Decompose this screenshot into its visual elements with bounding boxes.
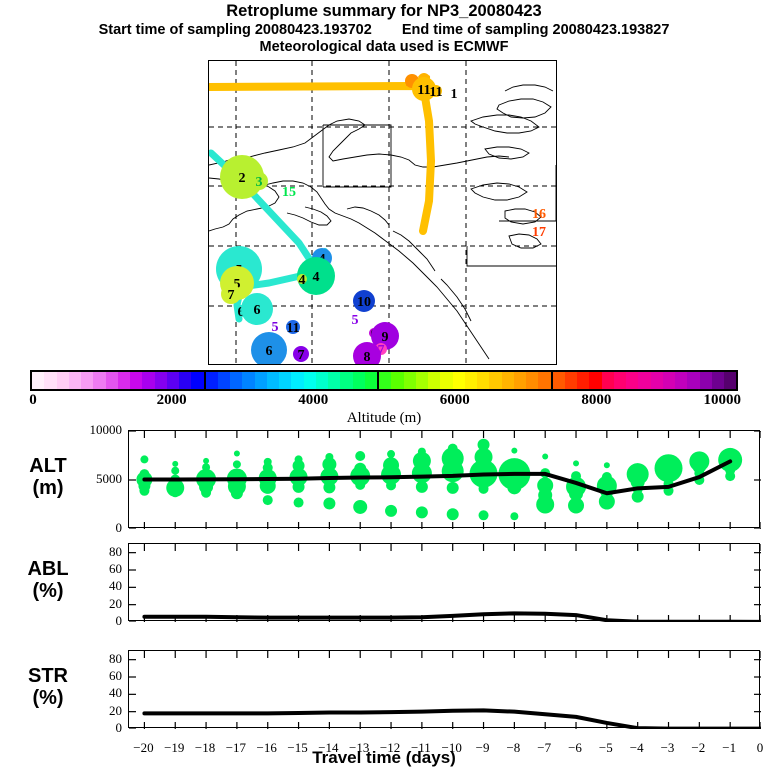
colorbar-swatch xyxy=(267,372,279,389)
altitude-particle-dot xyxy=(231,487,243,499)
colorbar-swatch xyxy=(602,372,614,389)
colorbar-swatch xyxy=(328,372,340,389)
y-tick-label: 0 xyxy=(80,520,122,536)
colorbar-swatch xyxy=(279,372,291,389)
map-marker-label: 11 xyxy=(286,321,299,336)
map-canvas: 141311111161723231544455766511671056978 xyxy=(209,61,556,364)
y-tick-label: 10000 xyxy=(80,422,122,438)
altitude-particle-dot xyxy=(511,448,517,454)
y-tick-label: 60 xyxy=(80,668,122,684)
map-marker-label: 4 xyxy=(299,273,306,288)
panel-alt[interactable] xyxy=(128,430,760,528)
y-tick-label: 40 xyxy=(80,578,122,594)
colorbar-swatch xyxy=(651,372,663,389)
altitude-particle-dot xyxy=(233,460,241,468)
colorbar-swatch xyxy=(626,372,638,389)
altitude-particle-dot xyxy=(568,497,584,513)
altitude-particle-dot xyxy=(542,453,548,459)
altitude-particle-dot xyxy=(632,491,644,503)
map-marker-label: 15 xyxy=(282,185,296,200)
colorbar-swatch xyxy=(489,372,501,389)
colorbar-swatch xyxy=(304,372,316,389)
map-marker-label: 7 xyxy=(228,288,235,303)
altitude-particle-dot xyxy=(510,512,518,520)
altitude-particle-dot xyxy=(293,481,305,493)
colorbar-swatch xyxy=(614,372,626,389)
altitude-particle-dot xyxy=(170,487,180,497)
map-marker-label: 16 xyxy=(532,207,546,222)
coastline xyxy=(287,207,331,225)
coastline xyxy=(505,85,553,91)
altitude-particle-dot xyxy=(599,494,615,510)
colorbar-swatch xyxy=(453,372,465,389)
map-marker-label: 7 xyxy=(298,348,305,363)
panel-canvas xyxy=(129,544,761,622)
colorbar-swatch xyxy=(191,372,203,389)
colorbar-swatch xyxy=(365,372,377,389)
altitude-particle-dot xyxy=(263,495,273,505)
altitude-particle-dot xyxy=(385,505,397,517)
page-title: Retroplume summary for NP3_20080423 xyxy=(0,2,768,21)
sampling-times: Start time of sampling 20080423.193702 E… xyxy=(0,21,768,39)
y-tick-label: 60 xyxy=(80,561,122,577)
colorbar-swatch xyxy=(179,372,191,389)
colorbar-swatch xyxy=(353,372,365,389)
met-data-label: Meteorological data used is ECMWF xyxy=(0,39,768,56)
colorbar-ticks: 0200040006000800010000 xyxy=(30,391,738,411)
map-marker-label: 11 xyxy=(429,85,442,100)
panel-str[interactable] xyxy=(128,650,760,728)
colorbar-swatch xyxy=(106,372,118,389)
colorbar-swatch xyxy=(700,372,712,389)
altitude-particle-dot xyxy=(139,486,149,496)
colorbar-swatch xyxy=(553,372,565,389)
altitude-particle-dot xyxy=(387,450,395,458)
y-tick-label: 0 xyxy=(80,720,122,736)
altitude-particle-dot xyxy=(323,481,335,493)
colorbar-swatch xyxy=(206,372,218,389)
map-marker-label: 3 xyxy=(256,175,263,190)
altitude-particle-dot xyxy=(573,460,579,466)
panel-label-line1: ABL xyxy=(8,558,88,580)
border-line xyxy=(323,125,391,187)
colorbar-tick-label: 0 xyxy=(29,392,37,409)
map-marker-label: 4 xyxy=(313,270,320,285)
x-axis-title: Travel time (days) xyxy=(0,748,768,768)
panel-label-line2: (%) xyxy=(8,687,88,709)
colorbar-swatch xyxy=(687,372,699,389)
map-marker-label: 6 xyxy=(266,344,273,359)
border-line xyxy=(467,246,556,266)
altitude-particle-dot xyxy=(234,451,240,457)
retroplume-map[interactable]: 141311111161723231544455766511671056978 xyxy=(208,60,557,365)
colorbar-swatch xyxy=(724,372,736,389)
start-time-label: Start time of sampling 20080423.193702 xyxy=(99,22,372,38)
altitude-particle-dot xyxy=(447,482,459,494)
colorbar-swatch xyxy=(638,372,650,389)
altitude-particle-dot xyxy=(386,480,396,490)
altitude-particle-dot xyxy=(171,467,179,475)
altitude-particle-dot xyxy=(140,455,148,463)
colorbar-swatch xyxy=(291,372,303,389)
coastline xyxy=(347,207,389,225)
colorbar-swatch xyxy=(118,372,130,389)
colorbar-tick-label: 8000 xyxy=(581,392,611,409)
panel-label-alt: ALT(m) xyxy=(8,455,88,499)
map-marker-label: 8 xyxy=(364,350,371,364)
altitude-particle-dot xyxy=(416,481,428,493)
map-marker-label: 6 xyxy=(254,303,261,318)
altitude-particle-dot xyxy=(355,480,365,490)
colorbar-swatch xyxy=(514,372,526,389)
colorbar-swatch xyxy=(340,372,352,389)
altitude-particle-dot xyxy=(442,460,464,482)
panel-label-line2: (m) xyxy=(8,477,88,499)
colorbar-swatch xyxy=(142,372,154,389)
y-tick-label: 0 xyxy=(80,613,122,629)
altitude-particle-dot xyxy=(479,510,489,520)
y-tick-label: 80 xyxy=(80,544,122,560)
colorbar-swatch xyxy=(130,372,142,389)
colorbar-swatch xyxy=(316,372,328,389)
altitude-particle-dot xyxy=(536,496,554,514)
colorbar-swatch xyxy=(69,372,81,389)
header-block: Retroplume summary for NP3_20080423 Star… xyxy=(0,0,768,56)
colorbar-swatch xyxy=(255,372,267,389)
map-marker-label: 1 xyxy=(451,87,458,102)
colorbar-swatch xyxy=(404,372,416,389)
colorbar-tick-label: 10000 xyxy=(704,392,742,409)
colorbar-swatch xyxy=(428,372,440,389)
altitude-particle-dot xyxy=(172,461,178,467)
colorbar-swatch xyxy=(93,372,105,389)
y-tick-label: 20 xyxy=(80,596,122,612)
altitude-particle-dot xyxy=(201,488,211,498)
colorbar-swatch xyxy=(81,372,93,389)
end-time-label: End time of sampling 20080423.193827 xyxy=(402,22,670,38)
colorbar-swatch xyxy=(526,372,538,389)
y-tick-label: 40 xyxy=(80,685,122,701)
panel-canvas xyxy=(129,431,761,529)
panel-label-line1: STR xyxy=(8,665,88,687)
border-line xyxy=(499,165,556,221)
colorbar-swatch xyxy=(675,372,687,389)
colorbar-swatch xyxy=(502,372,514,389)
map-marker-label: 10 xyxy=(357,295,371,310)
altitude-particle-dot xyxy=(203,458,209,464)
y-tick-label: 20 xyxy=(80,703,122,719)
colorbar-swatch xyxy=(230,372,242,389)
colorbar-swatch xyxy=(391,372,403,389)
altitude-particle-dot xyxy=(412,463,432,483)
colorbar-swatch xyxy=(32,372,44,389)
altitude-particle-dot xyxy=(353,500,367,514)
colorbar-swatch xyxy=(477,372,489,389)
altitude-particle-dot xyxy=(355,451,365,461)
altitude-particle-dot xyxy=(323,498,335,510)
colorbar-swatch xyxy=(416,372,428,389)
colorbar-tick-label: 2000 xyxy=(157,392,187,409)
colorbar-swatch xyxy=(712,372,724,389)
colorbar-swatch xyxy=(155,372,167,389)
colorbar-swatch xyxy=(167,372,179,389)
altitude-particle-dot xyxy=(604,462,610,468)
colorbar-tick-label: 4000 xyxy=(298,392,328,409)
colorbar-swatch xyxy=(379,372,391,389)
colorbar-swatch xyxy=(242,372,254,389)
map-marker-label: 17 xyxy=(532,225,546,240)
panel-label-str: STR(%) xyxy=(8,665,88,709)
panel-canvas xyxy=(129,651,761,729)
altitude-particle-dot xyxy=(416,506,428,518)
altitude-particle-dot xyxy=(725,471,735,481)
panel-label-line1: ALT xyxy=(8,455,88,477)
altitude-colorbar: 0200040006000800010000 Altitude (m) xyxy=(30,370,738,427)
colorbar-swatch xyxy=(218,372,230,389)
map-marker-label: 5 xyxy=(352,313,359,328)
colorbar-swatch xyxy=(44,372,56,389)
y-tick-label: 80 xyxy=(80,651,122,667)
panel-abl[interactable] xyxy=(128,543,760,621)
altitude-particle-dot xyxy=(447,508,459,520)
colorbar-swatch xyxy=(57,372,69,389)
map-marker-label: 2 xyxy=(239,171,246,186)
colorbar-gradient xyxy=(30,370,738,391)
colorbar-swatch xyxy=(465,372,477,389)
altitude-particle-dot xyxy=(507,480,521,494)
colorbar-swatch xyxy=(663,372,675,389)
y-tick-label: 5000 xyxy=(80,471,122,487)
colorbar-swatch xyxy=(538,372,550,389)
altitude-particle-dot xyxy=(479,484,489,494)
colorbar-swatch xyxy=(440,372,452,389)
colorbar-swatch xyxy=(577,372,589,389)
colorbar-swatch xyxy=(565,372,577,389)
colorbar-swatch xyxy=(589,372,601,389)
colorbar-title: Altitude (m) xyxy=(30,410,738,427)
altitude-particle-dot xyxy=(294,498,304,508)
colorbar-tick-label: 6000 xyxy=(440,392,470,409)
panel-label-abl: ABL(%) xyxy=(8,558,88,602)
panel-label-line2: (%) xyxy=(8,580,88,602)
